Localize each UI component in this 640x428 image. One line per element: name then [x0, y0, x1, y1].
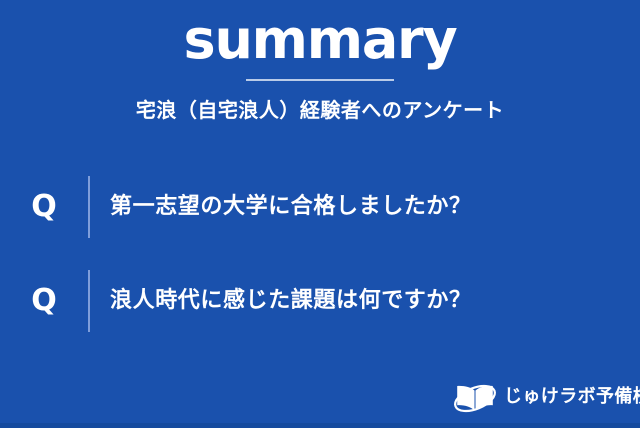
summary-slide: summary 宅浪（自宅浪人）経験者へのアンケート Q 第一志望の大学に合格し…: [0, 0, 640, 428]
question-row: Q 第一志望の大学に合格しましたか？: [0, 176, 640, 238]
open-book-orbit-icon: [452, 380, 498, 414]
question-text: 浪人時代に感じた課題は何ですか？: [90, 286, 472, 316]
brand-logo: じゅけラボ予備校: [452, 380, 640, 414]
bottom-band: [0, 423, 640, 428]
question-row: Q 浪人時代に感じた課題は何ですか？: [0, 270, 640, 332]
brand-logo-text: じゅけラボ予備校: [504, 386, 640, 408]
page-title: summary: [0, 11, 640, 69]
question-list: Q 第一志望の大学に合格しましたか？ Q 浪人時代に感じた課題は何ですか？: [0, 176, 640, 364]
page-subtitle: 宅浪（自宅浪人）経験者へのアンケート: [0, 96, 640, 124]
title-divider-rule: [246, 79, 394, 81]
question-text: 第一志望の大学に合格しましたか？: [90, 192, 472, 222]
question-marker: Q: [0, 190, 88, 224]
question-marker: Q: [0, 284, 88, 318]
slide-header: summary 宅浪（自宅浪人）経験者へのアンケート: [0, 0, 640, 124]
